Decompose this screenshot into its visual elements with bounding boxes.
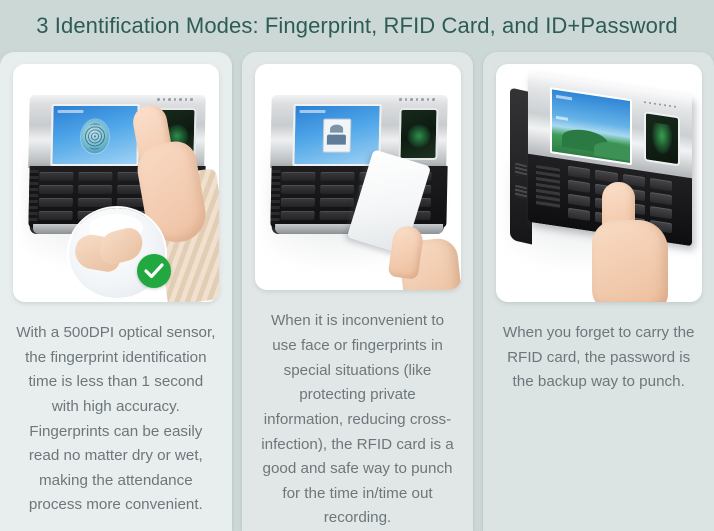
sensor-glow: [652, 122, 672, 155]
display-status-line-2: [556, 116, 568, 121]
speaker-vent-icon: [270, 170, 280, 224]
hand-back: [592, 220, 668, 302]
side-vent-icon: [515, 185, 527, 200]
feature-card-fingerprint[interactable]: With a 500DPI optical sensor, the finger…: [0, 52, 232, 531]
speaker-vent-icon: [28, 170, 38, 224]
hand-pressing-keypad: [592, 182, 670, 302]
feature-cards-row: With a 500DPI optical sensor, the finger…: [0, 52, 714, 531]
product-photo-fingerprint: [13, 64, 219, 302]
green-check-icon: [137, 254, 171, 288]
fingerprint-icon: [80, 119, 109, 153]
display-status-line: [556, 95, 572, 100]
wallpaper-hill-2: [594, 140, 632, 162]
promo-page: 3 Identification Modes: Fingerprint, RFI…: [0, 0, 714, 531]
card-caption: When you forget to carry the RFID card, …: [497, 321, 701, 395]
feature-card-rfid[interactable]: When it is inconvenient to use face or f…: [242, 52, 474, 531]
id-badge-icon: [322, 119, 351, 153]
hand-holding-card: [385, 211, 461, 291]
product-photo-password: [496, 64, 702, 302]
terminal-display: [292, 104, 381, 166]
display-status-line: [57, 110, 83, 113]
speaker-vent-icon: [536, 165, 560, 209]
card-caption: With a 500DPI optical sensor, the finger…: [16, 321, 216, 518]
product-photo-rfid: [255, 64, 461, 290]
terminal-display: [50, 104, 139, 166]
display-status-line: [299, 110, 325, 113]
fingerprint-sensor: [398, 108, 438, 160]
fingerprint-sensor: [644, 111, 680, 166]
side-vent-icon: [515, 163, 527, 178]
indicator-leds: [398, 98, 434, 102]
card-caption: When it is inconvenient to use face or f…: [258, 309, 458, 531]
page-header: 3 Identification Modes: Fingerprint, RFI…: [0, 0, 714, 52]
feature-card-password[interactable]: When you forget to carry the RFID card, …: [483, 52, 714, 531]
sensor-glow: [406, 124, 431, 148]
page-title: 3 Identification Modes: Fingerprint, RFI…: [36, 13, 678, 39]
terminal-display: [550, 87, 632, 165]
